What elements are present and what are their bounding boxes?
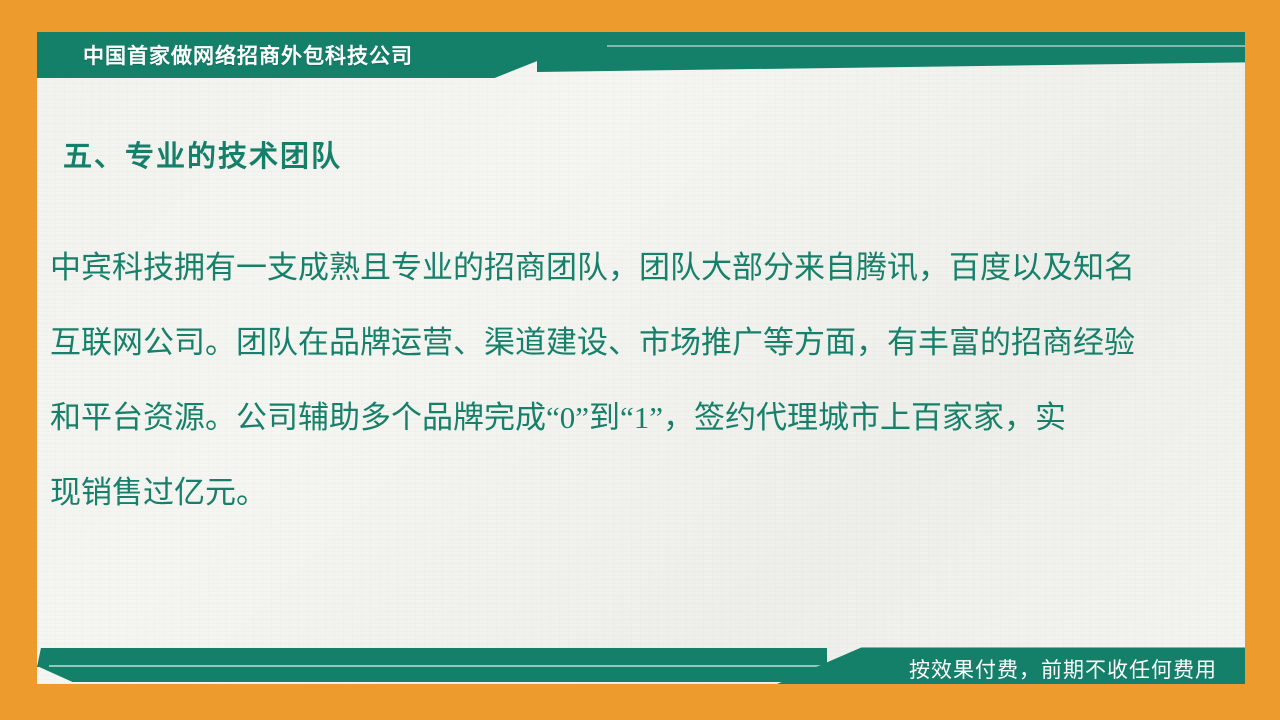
body-paragraph: 中宾科技拥有一支成熟且专业的招商团队，团队大部分来自腾讯，百度以及知名 互联网公… <box>50 230 1185 530</box>
footer-slogan: 按效果付费，前期不收任何费用 <box>909 654 1217 684</box>
header-title: 中国首家做网络招商外包科技公司 <box>83 40 413 70</box>
header-banner: 中国首家做网络招商外包科技公司 <box>37 32 1245 78</box>
header-green-strip-lower <box>537 56 1245 72</box>
slide-canvas: 中国首家做网络招商外包科技公司 五、专业的技术团队 中宾科技拥有一支成熟且专业的… <box>0 0 1280 720</box>
body-line: 互联网公司。团队在品牌运营、渠道建设、市场推广等方面，有丰富的招商经验 <box>50 305 1185 380</box>
footer-banner: 按效果付费，前期不收任何费用 <box>37 640 1245 684</box>
footer-green-strip-lower <box>37 666 827 682</box>
header-hairline-divider <box>607 45 1245 47</box>
body-line: 中宾科技拥有一支成熟且专业的招商团队，团队大部分来自腾讯，百度以及知名 <box>50 230 1185 305</box>
body-line: 和平台资源。公司辅助多个品牌完成“0”到“1”，签约代理城市上百家家，实 <box>50 380 1185 455</box>
footer-green-block: 按效果付费，前期不收任何费用 <box>777 640 1245 684</box>
footer-hairline-divider <box>49 665 827 667</box>
section-heading: 五、专业的技术团队 <box>63 133 342 175</box>
body-line: 现销售过亿元。 <box>50 455 1185 530</box>
